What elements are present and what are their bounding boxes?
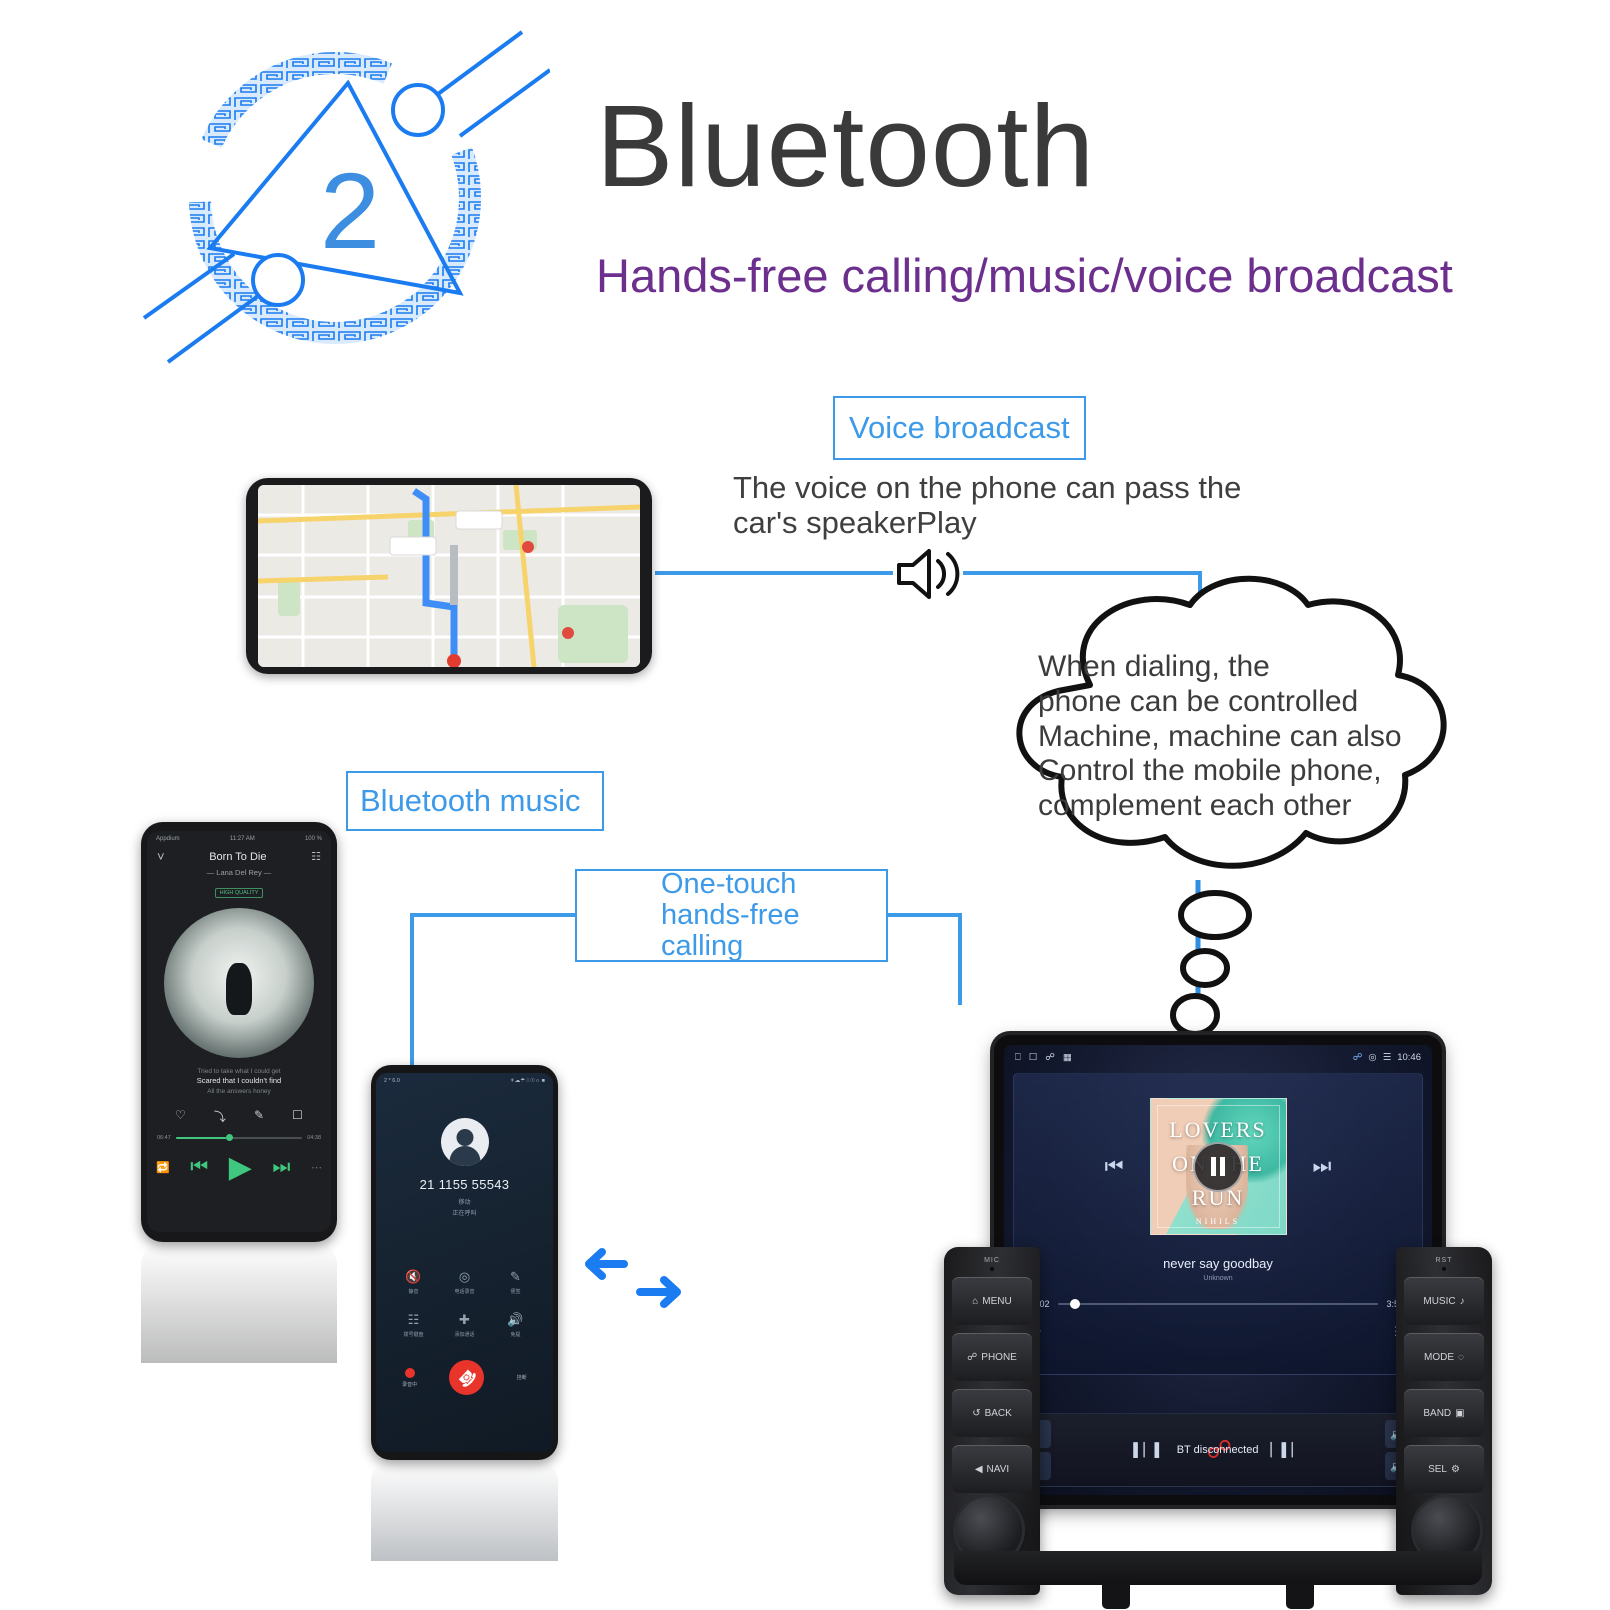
callout-bluetooth-music: Bluetooth music	[346, 771, 604, 831]
bluetooth-icon: ☍	[1353, 1052, 1363, 1063]
badge-number-text: 2	[320, 150, 380, 271]
equalizer-icon[interactable]: ☷	[311, 850, 321, 863]
music-artist: — Lana Del Rey —	[147, 868, 331, 877]
music-progress-bar[interactable]	[176, 1137, 302, 1139]
callout-music-label: Bluetooth music	[360, 783, 581, 819]
band-icon: ▣	[1455, 1408, 1464, 1419]
rst-label: RST	[1404, 1257, 1484, 1264]
call-action-label: 添加通话	[439, 1331, 490, 1338]
more-icon[interactable]: ⋯	[311, 1161, 322, 1174]
call-record-label: 录音中	[402, 1381, 417, 1388]
car-bottom-bar: ⌂ ↵ ▌▏▌ BT disconnected ☍ ▏▌▏ 🔈+ 🔈−	[1013, 1413, 1423, 1487]
cloud-line-1: When dialing, the	[1038, 650, 1458, 685]
car-screen-bezel: ⎕ ☐ ☍ ▦ ☍ ◎ ☰ 10:46 ⏮	[994, 1035, 1442, 1505]
mic-label: MIC	[952, 1257, 1032, 1264]
call-action-label: 电话录音	[439, 1288, 490, 1295]
call-statusbar-left: 2 * 6.0	[384, 1078, 400, 1084]
exchange-arrow-icon	[578, 1238, 688, 1318]
call-action-label: 免提	[490, 1331, 541, 1338]
left-button-label: MENU	[982, 1296, 1011, 1307]
car-now-playing: ⏮ LOVERS ON THE RUN NIHILS	[1013, 1073, 1423, 1375]
call-action-mute[interactable]: 🔇 静音	[388, 1269, 439, 1295]
call-action-keypad[interactable]: ☷ 拨号键盘	[388, 1312, 439, 1338]
mic-hole	[990, 1267, 994, 1271]
right-button-band[interactable]: BAND ▣	[1404, 1389, 1484, 1437]
map-screen	[258, 485, 640, 667]
visualizer-left-icon: ▌▏▌	[1133, 1442, 1164, 1458]
left-button-menu[interactable]: ⌂ MENU	[952, 1277, 1032, 1325]
page-subtitle: Hands-free calling/music/voice broadcast	[596, 248, 1453, 303]
location-icon: ◎	[1368, 1052, 1376, 1063]
hangup-button[interactable]: ☎	[449, 1360, 484, 1395]
music-note-icon: ♪	[1460, 1296, 1465, 1307]
right-button-label: SEL	[1428, 1464, 1447, 1475]
rst-hole[interactable]	[1442, 1267, 1446, 1271]
avatar	[441, 1118, 489, 1166]
phone-music-player: Appdium 11:27 AM 100 % ˅ Born To Die ☷ —…	[141, 822, 337, 1242]
right-button-label: MUSIC	[1423, 1296, 1455, 1307]
play-icon[interactable]: ▶	[229, 1153, 252, 1183]
call-sub-2: 正在呼叫	[376, 1208, 553, 1217]
sd-card-icon[interactable]: ▦	[1063, 1052, 1072, 1063]
callout-voice-label: Voice broadcast	[849, 410, 1070, 446]
phone-call-screen: 2 * 6.0 ☀☁☂☃☉☼ ■ 21 1155 55543 移动 正在呼叫 🔇…	[371, 1065, 558, 1460]
music-time-elapsed: 06:47	[157, 1135, 171, 1141]
call-action-label: 便签	[490, 1288, 541, 1295]
car-album-art: LOVERS ON THE RUN NIHILS	[1150, 1098, 1287, 1235]
visualizer-right-icon: ▏▌▏	[1270, 1442, 1302, 1458]
car-unit-base	[954, 1551, 1482, 1585]
bt-status-text: BT disconnected	[1177, 1444, 1259, 1456]
recents-icon[interactable]: ☐	[1029, 1052, 1038, 1063]
right-button-mode[interactable]: MODE ◌	[1404, 1333, 1484, 1381]
music-statusbar-carrier: Appdium	[156, 836, 180, 842]
shuffle-icon[interactable]: 🔁	[156, 1161, 170, 1174]
call-action-record[interactable]: ◎ 电话录音	[439, 1269, 490, 1295]
left-button-label: BACK	[985, 1408, 1012, 1419]
hangup-icon: ☎	[453, 1363, 481, 1391]
music-lyric-1: Tried to take what I could get	[147, 1067, 331, 1076]
call-action-add[interactable]: ✚ 添加通话	[439, 1312, 490, 1338]
call-phone-reflection	[371, 1461, 558, 1561]
left-button-navi[interactable]: ◀ NAVI	[952, 1445, 1032, 1493]
call-statusbar-icons: ☀☁☂☃☉☼ ■	[510, 1078, 545, 1084]
heart-icon[interactable]: ♡	[175, 1108, 186, 1125]
callout-one-touch-calling: One-touch hands-free calling	[575, 869, 888, 962]
mute-icon: 🔇	[388, 1269, 439, 1285]
music-album-art	[164, 908, 314, 1058]
call-screen: 2 * 6.0 ☀☁☂☃☉☼ ■ 21 1155 55543 移动 正在呼叫 🔇…	[376, 1073, 553, 1452]
left-button-label: PHONE	[981, 1352, 1017, 1363]
bluetooth-icon: ☍	[967, 1352, 977, 1363]
cloud-line-2: phone can be controlled	[1038, 685, 1458, 720]
keypad-icon: ☷	[388, 1312, 439, 1328]
music-statusbar-battery: 100 %	[305, 836, 322, 842]
car-track-title: never say goodbay	[1014, 1256, 1422, 1271]
cloud-trail-bubbles	[1155, 890, 1285, 1050]
cloud-line-5: complement each other	[1038, 789, 1458, 824]
screenshot-icon[interactable]: ⎕	[1015, 1052, 1021, 1063]
record-icon: ◎	[439, 1269, 490, 1285]
music-lyric-2: Scared that I couldn't find	[147, 1076, 331, 1087]
music-track-title: Born To Die	[209, 851, 266, 863]
call-recording-indicator[interactable]: 录音中	[402, 1368, 417, 1388]
logo-badge: 2	[130, 18, 550, 378]
mount-tab-right	[1286, 1583, 1314, 1609]
callout-onetouch-line-2: hands-free	[661, 900, 800, 931]
right-button-label: BAND	[1423, 1408, 1451, 1419]
page-title: Bluetooth	[596, 88, 1095, 204]
callout-onetouch-line-3: calling	[661, 931, 800, 962]
call-number: 21 1155 55543	[376, 1177, 553, 1192]
cloud-line-3: Machine, machine can also	[1038, 720, 1458, 755]
next-icon[interactable]: ⏭	[272, 1156, 290, 1179]
music-statusbar-time: 11:27 AM	[230, 836, 255, 842]
speaker-icon: 🔊	[490, 1312, 541, 1328]
usb-icon[interactable]: ☍	[1045, 1052, 1055, 1063]
right-button-music[interactable]: MUSIC ♪	[1404, 1277, 1484, 1325]
phone-map-navigation	[246, 478, 652, 674]
chevron-down-icon[interactable]: ˅	[157, 849, 165, 864]
call-action-grid: 🔇 静音 ◎ 电话录音 ✎ 便签 ☷ 拨号键盘 ✚ 添加通话 🔊 免提	[376, 1269, 553, 1338]
cloud-line-4: Control the mobile phone,	[1038, 754, 1458, 789]
left-button-phone[interactable]: ☍ PHONE	[952, 1333, 1032, 1381]
thought-cloud-text: When dialing, the phone can be controlle…	[1038, 650, 1458, 824]
mount-tab-left	[1102, 1583, 1130, 1609]
pause-icon	[1211, 1157, 1216, 1176]
car-statusbar-time: 10:46	[1397, 1052, 1421, 1063]
callout-onetouch-line-1: One-touch	[661, 869, 800, 900]
car-progress-bar[interactable]	[1058, 1303, 1379, 1305]
download-icon[interactable]: ⤵	[214, 1108, 226, 1125]
music-time-total: 04:38	[307, 1135, 321, 1141]
call-action-notes[interactable]: ✎ 便签	[490, 1269, 541, 1295]
menu-icon: ⌂	[972, 1296, 978, 1307]
music-quality-badge: HIGH QUALITY	[215, 888, 264, 898]
call-action-label: 拨号键盘	[388, 1331, 439, 1338]
signal-icon: ☰	[1383, 1052, 1392, 1063]
edit-icon[interactable]: ✎	[254, 1108, 264, 1125]
left-button-back[interactable]: ↺ BACK	[952, 1389, 1032, 1437]
left-button-label: NAVI	[987, 1464, 1010, 1475]
right-button-label: MODE	[1424, 1352, 1454, 1363]
right-button-sel[interactable]: SEL ⚙	[1404, 1445, 1484, 1493]
car-head-unit: ⎕ ☐ ☍ ▦ ☍ ◎ ☰ 10:46 ⏮	[944, 1035, 1492, 1595]
callout-voice-broadcast: Voice broadcast	[833, 396, 1086, 460]
comment-icon[interactable]: ☐	[292, 1108, 303, 1125]
album-line-4: NIHILS	[1151, 1217, 1286, 1226]
back-arrow-icon: ↺	[972, 1408, 980, 1419]
call-action-speaker[interactable]: 🔊 免提	[490, 1312, 541, 1338]
notes-icon: ✎	[490, 1269, 541, 1285]
mode-icon: ◌	[1458, 1352, 1464, 1363]
music-phone-reflection	[141, 1243, 337, 1363]
call-hangup-label: 挂断	[517, 1374, 527, 1381]
sel-icon: ⚙	[1451, 1464, 1460, 1475]
navi-icon: ◀	[975, 1464, 983, 1475]
voice-broadcast-description: The voice on the phone can pass the car'…	[733, 470, 1253, 541]
pause-button[interactable]	[1193, 1142, 1243, 1192]
next-icon[interactable]: ⏭	[1313, 1155, 1332, 1179]
car-track-artist: Unknown	[1014, 1275, 1422, 1282]
car-screen: ⎕ ☐ ☍ ▦ ☍ ◎ ☰ 10:46 ⏮	[1004, 1045, 1432, 1495]
add-call-icon: ✚	[439, 1312, 490, 1328]
call-sub-1: 移动	[376, 1197, 553, 1206]
previous-icon[interactable]: ⏮	[190, 1156, 208, 1179]
music-screen: Appdium 11:27 AM 100 % ˅ Born To Die ☷ —…	[147, 831, 331, 1232]
previous-icon[interactable]: ⏮	[1105, 1155, 1124, 1179]
music-lyric-3: All the answers honey	[147, 1087, 331, 1096]
call-action-label: 静音	[388, 1288, 439, 1295]
